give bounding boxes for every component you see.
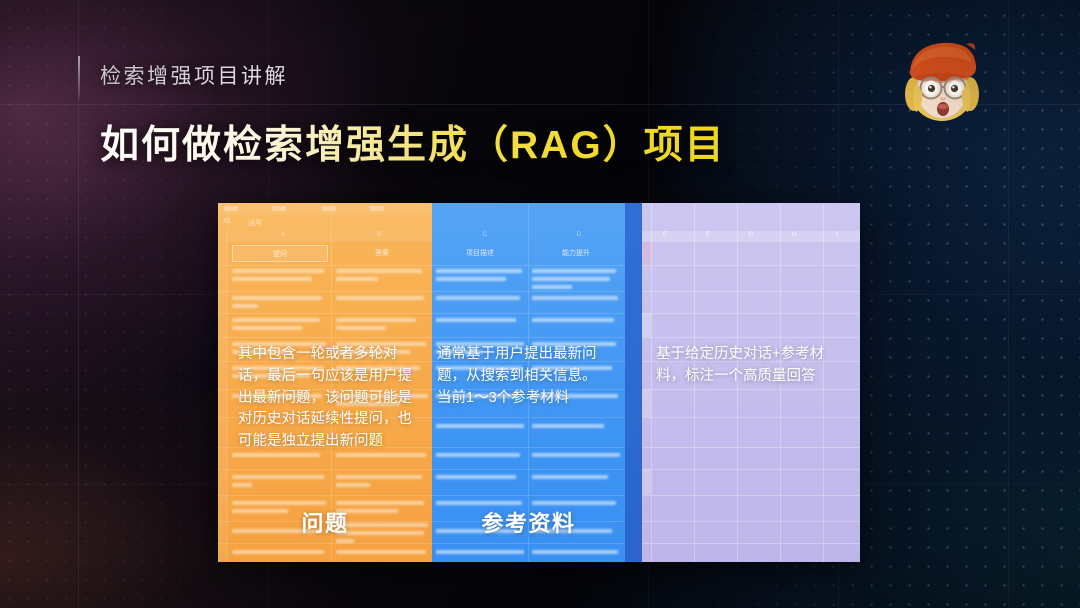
- cell-text-line: [436, 475, 516, 479]
- cell-text-line: [336, 269, 422, 273]
- page-title: 如何做检索增强生成（RAG）项目: [100, 114, 726, 170]
- row-sep-a9: [642, 469, 860, 470]
- cell-text-line: [436, 550, 524, 554]
- cell-text-line: [532, 285, 572, 289]
- row-sep-r8: [432, 447, 625, 448]
- row-sep-q4: [218, 337, 432, 338]
- row-sep-q2: [218, 291, 432, 292]
- cell-text-line: [436, 296, 520, 300]
- row-sep-r1: [432, 265, 625, 266]
- title-accent-bar: [78, 56, 80, 100]
- row-sep-q1: [218, 265, 432, 266]
- panel-column-divider: [625, 203, 642, 562]
- row-sep-q3: [218, 313, 432, 314]
- cell-text-line: [336, 318, 416, 322]
- cell-text-line: [232, 318, 320, 322]
- overlay-body-reference: 通常基于用户提出最新问题，从搜索到相关信息。当前1～3个参考材料: [437, 344, 607, 409]
- sheet-header-answer: 答案: [336, 245, 428, 260]
- cell-text-line: [532, 277, 610, 281]
- grid-v-a0: [651, 203, 652, 562]
- row-sep-q9: [218, 469, 432, 470]
- cell-text-line: [532, 453, 620, 457]
- cell-text-line: [336, 483, 370, 487]
- spreadsheet-toolbar[interactable]: [218, 203, 432, 215]
- cell-text-line: [232, 296, 322, 300]
- row-number-highlight-2: [642, 313, 651, 337]
- cell-text-line: [232, 501, 326, 505]
- cell-text-line: [532, 424, 604, 428]
- slide-canvas: 检索增强项目讲解 如何做检索增强生成（RAG）项目: [0, 0, 1080, 608]
- cell-text-line: [336, 475, 422, 479]
- cell-text-line: [232, 277, 312, 281]
- overlay-title-reference: 参考资料: [432, 506, 625, 538]
- background-grid-line-v5: [1008, 0, 1009, 608]
- sheet-header-capability: 能力提升: [532, 245, 620, 260]
- cell-text-line: [336, 296, 424, 300]
- sheet-header-project-desc: 项目描述: [436, 245, 524, 260]
- spreadsheet-format-label: 通用: [248, 218, 262, 228]
- cell-text-line: [532, 475, 608, 479]
- cell-text-line: [436, 453, 520, 457]
- column-letter-c[interactable]: C: [450, 232, 520, 238]
- cell-text-line: [436, 318, 516, 322]
- toolbar-icon-4[interactable]: [370, 206, 384, 211]
- row-sep-r2: [432, 291, 625, 292]
- row-sep-q12: [218, 543, 432, 544]
- cell-text-line: [232, 453, 320, 457]
- row-number-highlight-4: [642, 469, 651, 495]
- toolbar-icon-2[interactable]: [272, 206, 286, 211]
- cell-text-line: [532, 296, 618, 300]
- column-letter-d[interactable]: D: [544, 232, 614, 238]
- cell-text-line: [436, 501, 522, 505]
- cell-text-line: [436, 269, 522, 273]
- column-letter-f[interactable]: F: [691, 232, 725, 238]
- row-sep-r4: [432, 337, 625, 338]
- row-sep-r7: [432, 417, 625, 418]
- sheet-header-question: 提问: [232, 245, 328, 262]
- row-sep-a10: [642, 495, 860, 496]
- cell-text-line: [532, 269, 616, 273]
- cell-text-line: [232, 326, 302, 330]
- row-sep-a3: [642, 313, 860, 314]
- row-sep-r10: [432, 495, 625, 496]
- overlay-title-question: 问题: [218, 506, 432, 538]
- cell-text-line: [336, 326, 386, 330]
- column-letter-i[interactable]: I: [820, 232, 854, 238]
- cell-text-line: [336, 550, 426, 554]
- cell-text-line: [532, 318, 614, 322]
- cell-text-line: [232, 483, 252, 487]
- column-letter-a[interactable]: A: [248, 232, 318, 238]
- overlay-body-question: 其中包含一轮或者多轮对话，最后一句应该是用户提出最新问题，该问题可能是对历史对话…: [238, 344, 416, 453]
- row-sep-a1: [642, 265, 860, 266]
- toolbar-icon-3[interactable]: [322, 206, 336, 211]
- column-letter-b[interactable]: B: [344, 232, 414, 238]
- row-sep-a6: [642, 389, 860, 390]
- cell-text-line: [232, 304, 258, 308]
- overlay-body-answer: 基于给定历史对话+参考材料，标注一个高质量回答: [656, 344, 848, 388]
- cell-text-line: [532, 501, 616, 505]
- column-letter-e[interactable]: E: [648, 232, 682, 238]
- column-letter-g[interactable]: G: [734, 232, 768, 238]
- page-eyebrow: 检索增强项目讲解: [100, 60, 288, 90]
- cell-text-line: [232, 475, 324, 479]
- row-sep-a12: [642, 543, 860, 544]
- row-sep-a4: [642, 337, 860, 338]
- row-number-highlight-1: [642, 242, 651, 265]
- row-sep-r12: [432, 543, 625, 544]
- cell-text-line: [336, 453, 426, 457]
- row-sep-q10: [218, 495, 432, 496]
- row-sep-a7: [642, 417, 860, 418]
- cell-text-line: [336, 539, 354, 543]
- cell-text-line: [336, 501, 424, 505]
- cell-text-line: [336, 277, 378, 281]
- memoji-avatar: [896, 30, 988, 132]
- row-number-highlight-3: [642, 389, 651, 417]
- row-sep-a2: [642, 291, 860, 292]
- cell-text-line: [532, 550, 618, 554]
- cell-text-line: [232, 550, 324, 554]
- cell-text-line: [436, 424, 524, 428]
- column-letter-h[interactable]: H: [777, 232, 811, 238]
- row-sep-a11: [642, 521, 860, 522]
- row-sep-a8: [642, 447, 860, 448]
- row-sep-r9: [432, 469, 625, 470]
- cell-text-line: [436, 277, 506, 281]
- cell-text-line: [232, 269, 324, 273]
- row-sep-r3: [432, 313, 625, 314]
